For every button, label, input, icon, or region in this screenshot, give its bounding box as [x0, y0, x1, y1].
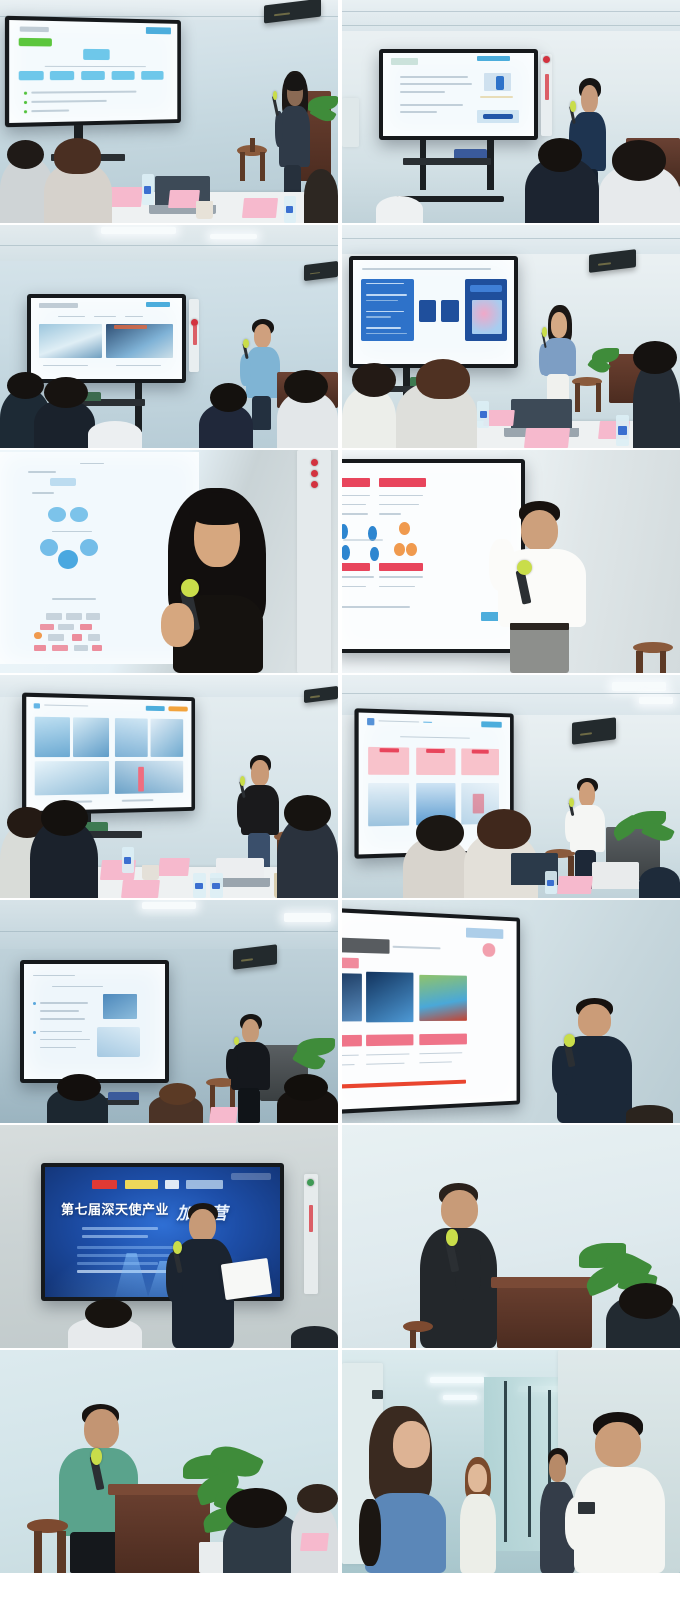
laptop [511, 399, 572, 430]
speaker-person [155, 488, 283, 673]
speaker-shirt [570, 805, 605, 852]
speaker-dress [279, 106, 310, 167]
diagram-node [58, 550, 78, 569]
collage-photo-10[interactable] [342, 900, 680, 1123]
presentation-screen [27, 294, 186, 383]
slide-content [24, 964, 165, 1079]
slide-content [9, 20, 177, 123]
sponsor-logo [92, 1180, 118, 1189]
opening-ceremony-scene: 第七届深天使产业 加速营 [0, 1125, 338, 1348]
slide-blue-panel [361, 279, 414, 341]
slide-title [342, 938, 389, 953]
slide-photo [103, 994, 137, 1019]
collage-photo-8[interactable] [342, 675, 680, 898]
step-badge [370, 547, 379, 562]
wooden-podium [115, 1488, 210, 1573]
presentation-screen [379, 49, 538, 140]
collage-photo-6[interactable] [342, 450, 680, 673]
presentation-screen [22, 693, 195, 816]
collage-photo-5[interactable] [0, 450, 338, 673]
meeting-room-scene [0, 0, 338, 223]
collage-photo-12[interactable] [342, 1125, 680, 1348]
slide-content [383, 53, 534, 136]
presentation-screen [20, 960, 169, 1083]
wooden-podium [497, 1281, 592, 1348]
slide-photo [106, 324, 172, 358]
slide-content [342, 913, 516, 1111]
presentation-screen [5, 16, 181, 128]
slide-content [26, 697, 191, 812]
collage-photo-13[interactable] [0, 1350, 338, 1573]
meeting-room-scene [342, 0, 680, 223]
collage-photo-9[interactable] [0, 900, 338, 1123]
collage-photo-3[interactable] [0, 225, 338, 448]
slide-photo [342, 974, 362, 1021]
slide-photo [366, 973, 413, 1024]
ceiling-speaker-icon [233, 944, 277, 969]
collage-photo-1[interactable] [0, 0, 338, 223]
diagram-node [48, 507, 66, 522]
slide-photo [39, 324, 102, 358]
diagram-node [40, 539, 58, 556]
audience-member [626, 1105, 673, 1123]
meeting-room-scene [342, 900, 680, 1123]
alarm-light-icon [311, 459, 318, 466]
slide-chart [368, 783, 409, 825]
slide-content [353, 260, 514, 364]
corridor-scene [342, 1350, 680, 1573]
presentation-screen [349, 256, 518, 368]
slide-photo [35, 716, 70, 757]
attendee-person [359, 1406, 460, 1573]
sponsor-logo [186, 1180, 224, 1189]
slide-heading [342, 478, 370, 487]
sponsor-logo [125, 1180, 158, 1189]
collage-photo-2[interactable] [342, 0, 680, 223]
closeup-speaker-scene [342, 450, 680, 673]
slide-content [31, 298, 182, 379]
phone-icon [578, 1502, 595, 1513]
podium-speaker-scene [0, 1350, 338, 1573]
presentation-screen [342, 908, 520, 1115]
step-badge [342, 545, 350, 560]
podium-speaker-scene [342, 1125, 680, 1348]
meeting-room-scene [0, 900, 338, 1123]
speaker-person [552, 998, 640, 1123]
collage-photo-14[interactable] [342, 1350, 680, 1573]
sponsor-logo [165, 1180, 179, 1189]
meeting-room-scene [0, 675, 338, 898]
collage-photo-7[interactable] [0, 675, 338, 898]
collage-photo-11[interactable]: 第七届深天使产业 加速营 [0, 1125, 338, 1348]
event-title-cn: 第七届深天使产业 [61, 1203, 169, 1217]
ceiling-speaker-icon [572, 717, 616, 745]
script-paper [221, 1258, 273, 1300]
ceiling-light [430, 1377, 484, 1384]
raised-arm [489, 539, 515, 591]
meeting-room-scene [0, 225, 338, 448]
step-badge [342, 524, 348, 539]
closeup-speaker-scene [0, 450, 338, 673]
attendee-person [457, 1457, 501, 1573]
refresh-icon [483, 944, 495, 957]
speaker-person [484, 501, 602, 673]
attendee-person [565, 1412, 673, 1573]
diagram-node [80, 539, 98, 556]
slide-photo [419, 976, 467, 1021]
water-bottle [142, 174, 154, 205]
diagram-node [70, 507, 88, 522]
collage-photo-4[interactable] [342, 225, 680, 448]
organizer-tag [231, 1173, 271, 1180]
photo-collage-grid: 第七届深天使产业 加速营 [0, 0, 680, 1601]
meeting-room-scene [342, 225, 680, 448]
persona-icon [399, 522, 410, 535]
slide-green-badge [18, 37, 52, 46]
meeting-room-scene [342, 675, 680, 898]
china-map-graphic [472, 300, 503, 334]
slide-heading [379, 478, 426, 487]
